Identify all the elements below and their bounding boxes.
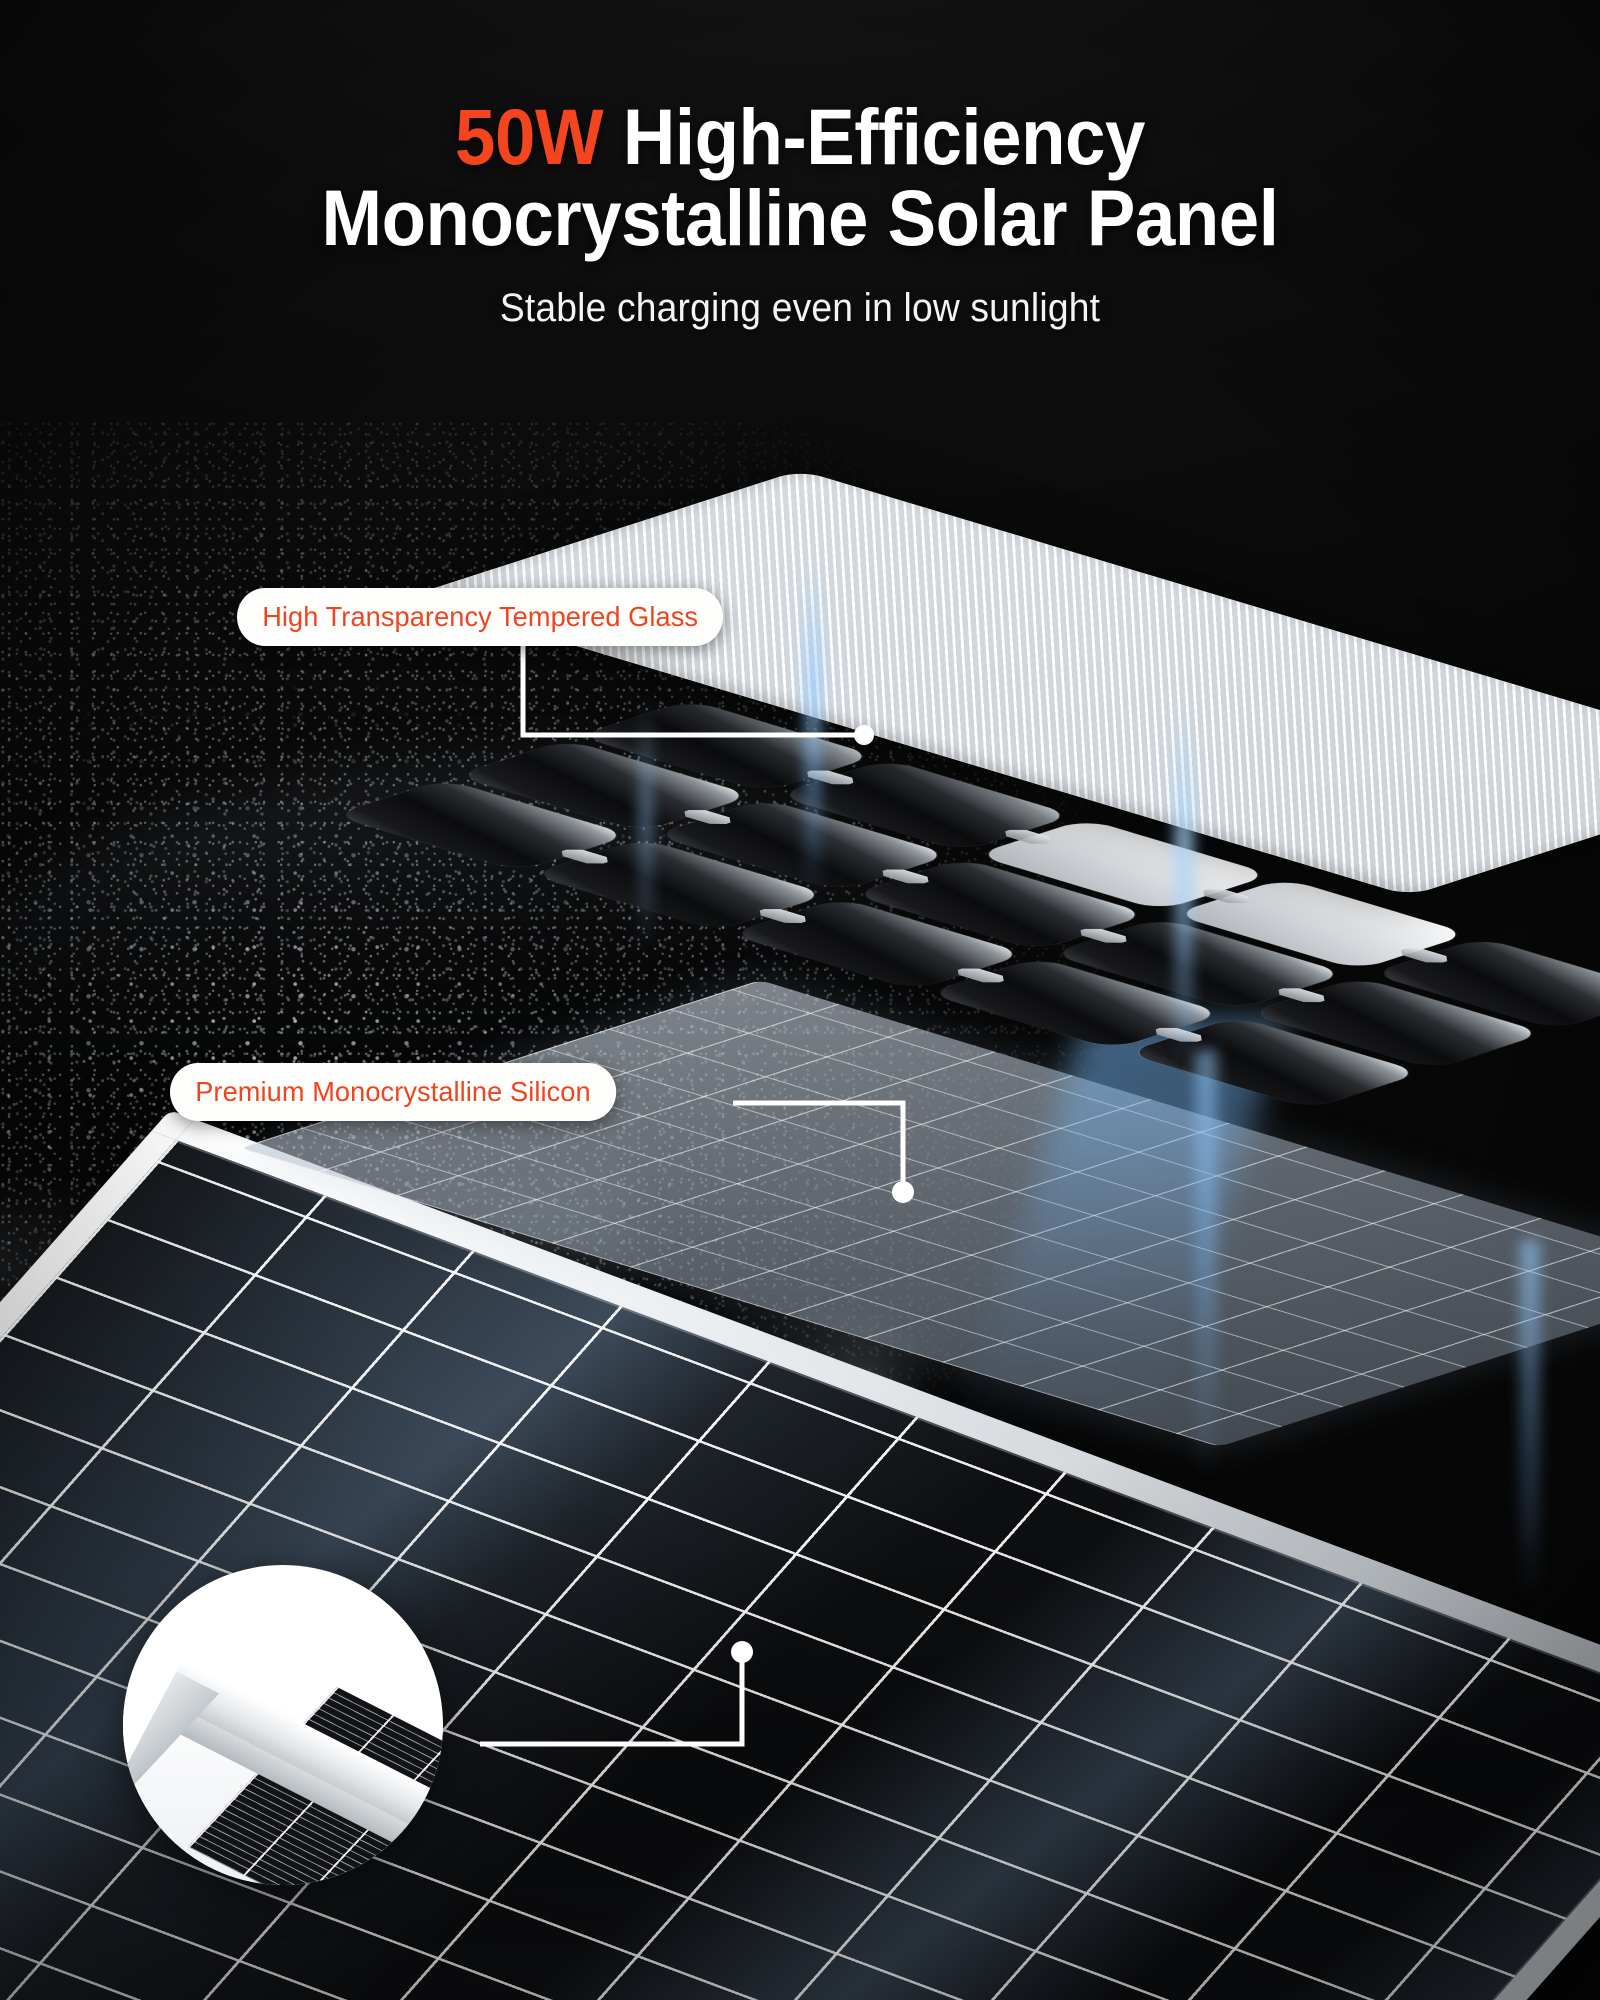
callout-pill-monocrystalline-silicon[interactable]: Premium Monocrystalline Silicon <box>170 1063 616 1121</box>
leader-line-monocrystalline-silicon <box>0 0 1600 2000</box>
leader-line-tempered-glass <box>0 0 1600 2000</box>
product-banner: 50W High-Efficiency Monocrystalline Sola… <box>0 0 1600 2000</box>
callout-pill-tempered-glass[interactable]: High Transparency Tempered Glass <box>237 588 723 646</box>
callout-group: High Transparency Tempered Glass Premium… <box>0 0 1600 2000</box>
callout-label-monocrystalline-silicon: Premium Monocrystalline Silicon <box>195 1076 590 1108</box>
callout-label-tempered-glass: High Transparency Tempered Glass <box>262 601 698 633</box>
leader-line-frame-detail <box>0 0 1600 2000</box>
